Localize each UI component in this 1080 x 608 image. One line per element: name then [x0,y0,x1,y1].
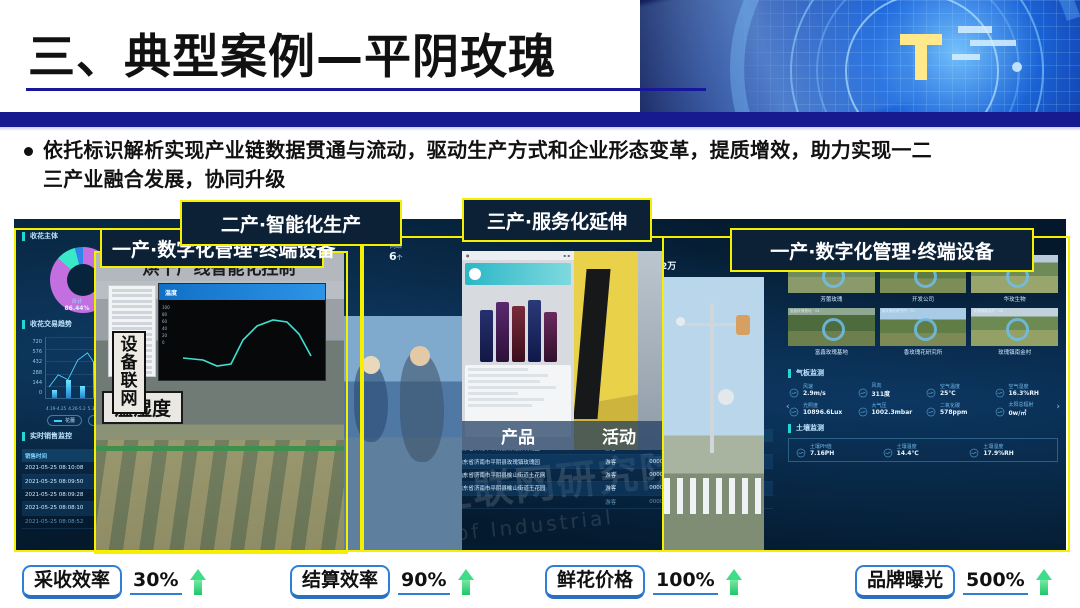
section-marker-icon [22,432,25,441]
scope-plot: 100806040200 [159,300,325,380]
metric-name-chip: 结算效率 [290,565,390,599]
pressure-icon [857,403,869,415]
metric-value-text: 90% [398,569,449,595]
callout-primary-right: 一产·数字化管理·终端设备 [730,228,1034,272]
light-sweep-icon [640,0,915,112]
pill-swatch-icon [54,420,62,422]
pill-filter[interactable]: 花蕾 [47,415,82,426]
co2-icon [925,403,937,415]
x-tick: 4.19-4.25 [46,406,66,411]
camera-feed-image: 玫瑰镇南金村 · 06 [971,308,1058,346]
anemometer-cup-icon [676,317,685,326]
metric-badge: 鲜花价格100% [545,565,742,599]
metric-tile: 风向311度 [857,382,922,398]
metric-label: 空气湿度 [1009,383,1039,390]
trend-up-arrow-icon [458,569,474,595]
wind-direction-icon [857,384,869,396]
metric-value: 2.9m/s [803,390,826,397]
table-cell [454,495,602,508]
temperature-line-icon [159,300,325,380]
metric-value: 25℃ [940,390,960,397]
section-marker-icon [22,320,25,329]
metric-tile: 空气温度25℃ [925,382,990,398]
y-tick: 288 [22,368,42,378]
bullet-line-1: 依托标识解析实现产业链数据贯通与流动，驱动生产方式和企业形态变革，提质增效，助力… [43,136,932,165]
camera-name: 玫瑰镇南金村 [971,346,1058,356]
section-marker-icon [788,369,791,378]
metric-value: 10896.6Lux [803,409,842,416]
metric-label: 土壤湿度 [983,443,1013,450]
photo-phone-product: ●▪ ▪ 产品 [462,251,574,450]
photo-package-activity: 活动 [574,251,664,450]
footer-metrics-row: 采收效率30%结算效率90%鲜花价格100%品牌曝光500% [0,558,1080,606]
camera-name: 芳蕾玫瑰 [788,293,875,303]
metric-tile: 土壤湿度17.9%RH [968,443,1051,457]
stat-value: 6 [389,250,397,263]
camera-name: 富鑫玫瑰基地 [788,346,875,356]
photo-factory-workers [344,316,462,550]
table-cell: 游客 [602,495,646,508]
scope-y-axis: 100806040200 [162,304,170,346]
soil-temp-icon [882,444,894,456]
y-tick: 144 [22,378,42,388]
camera-name: 开发公司 [880,293,967,303]
slide-header: 三、典型案例—平阴玫瑰 [0,0,1080,112]
metric-name-chip: 鲜花价格 [545,565,645,599]
sensor-box-icon [736,315,750,335]
circuit-chip-icon [952,54,980,60]
phone-status-bar: ●▪ ▪ [462,251,574,260]
metric-value-text: 30% [130,569,181,595]
phone-banner [465,263,571,285]
pill-label: 花蕾 [65,417,75,424]
camera-tile[interactable]: 香玫瑰花研究所 · 05香玫瑰花研究所 [880,308,967,356]
pie-section-title: 收花主体 [30,231,58,241]
table-cell: 山东省济南市平阴县榆山街道王花园 [454,482,602,495]
stat-unit: 个 [397,255,403,262]
station-arm [680,323,744,326]
circuit-node-icon [1012,62,1022,72]
metric-tile: 太阳总辐射0w/㎡ [994,401,1059,417]
wind-icon [788,384,800,396]
device-network-label: 设备联网 [112,331,146,414]
metric-label: 风速 [803,383,826,390]
ph-icon [795,444,807,456]
metric-value: 16.3%RH [1009,390,1039,397]
photo-caption-activity: 活动 [574,421,664,450]
trend-up-arrow-icon [1036,569,1052,595]
photo-weather-station [664,277,764,550]
metric-tile: 大气压1002.3mbar [857,401,922,417]
y-tick: 432 [22,357,42,367]
weather-metrics-grid: 风速2.9m/s风向311度空气温度25℃空气湿度16.3%RH光照度10896… [788,382,1058,417]
metric-label: 风向 [872,382,891,389]
trend-up-arrow-icon [726,569,742,595]
soil-section-header: 土壤监测 [788,423,1058,433]
bullet-block: 依托标识解析实现产业链数据贯通与流动，驱动生产方式和企业形态变革，提质增效，助力… [24,136,1064,194]
camera-name: 香玫瑰花研究所 [880,346,967,356]
radiation-icon [994,403,1006,415]
metric-tile: 土壤温度14.4℃ [882,443,965,457]
metric-label: 大气压 [872,402,913,409]
metric-badge: 品牌曝光500% [855,565,1052,599]
metric-label: 太阳总辐射 [1009,401,1034,408]
camera-feed-image: 富鑫玫瑰基地 · 04 [788,308,875,346]
bullet-line-2: 三产业融合发展，协同升级 [43,165,932,194]
callout-secondary: 二产·智能化生产 [180,200,402,246]
table-cell: 游客 [602,482,646,495]
package-label-strip [574,269,611,419]
humidity-icon [994,384,1006,396]
callout-tertiary: 三产·服务化延伸 [462,198,652,242]
camera-tile[interactable]: 玫瑰镇南金村 · 06玫瑰镇南金村 [971,308,1058,356]
header-divider-bar [0,112,1080,127]
metric-value-text: 100% [653,569,718,595]
weather-section-title: 气板监测 [796,368,824,378]
header-tech-graphic [640,0,1080,112]
section-marker-icon [22,232,25,241]
section-marker-icon [788,424,791,433]
camera-next-icon[interactable]: › [1056,402,1060,412]
tray-rail [94,446,344,451]
header-divider-shadow [0,127,1080,131]
y-tick: 576 [22,347,42,357]
slide-root: 三、典型案例—平阴玫瑰 依托标识解析实现产业链数据贯通与流动，驱动生产方式和企业… [0,0,1080,608]
metric-label: 土壤PH值 [810,443,834,450]
metric-value: 578ppm [940,409,967,416]
metric-badge: 结算效率90% [290,565,474,599]
camera-tile[interactable]: 富鑫玫瑰基地 · 04富鑫玫瑰基地 [788,308,875,356]
title-underline [26,88,706,91]
logo-letter-t-icon [900,34,942,80]
metric-badge: 采收效率30% [22,565,206,599]
table-cell: 游客 [602,455,646,468]
bullet-dot-icon [24,147,33,156]
table-cell: 山东省济南市平阴县榆山街道土花网 [454,468,602,481]
metric-tile: 光照度10896.6Lux [788,401,853,417]
thermometer-icon [925,384,937,396]
soil-humidity-icon [968,444,980,456]
camera-osd-text: 香玫瑰花研究所 · 05 [882,309,915,314]
metric-tile: 土壤PH值7.16PH [795,443,878,457]
temperature-chart-screen: 温度 100806040200 [158,283,326,381]
scope-title: 温度 [159,284,325,300]
soil-section-title: 土壤监测 [796,423,824,433]
metric-label: 光照度 [803,402,842,409]
camera-dome-icon [718,389,734,405]
photo-caption-product: 产品 [462,421,574,450]
table-cell: 游客 [602,468,646,481]
metric-name-chip: 品牌曝光 [855,565,955,599]
bar-chart-y-axis: 720 576 432 288 144 0 [22,337,42,398]
bar-section-title: 收花交易趋势 [30,319,72,329]
x-tick: 4.26-5.2 [68,406,86,411]
sun-icon [788,403,800,415]
metric-value: 311度 [872,389,891,398]
soil-metrics-grid: 土壤PH值7.16PH土壤温度14.4℃土壤湿度17.9%RH [795,443,1051,457]
metric-tile: 二氧化碳578ppm [925,401,990,417]
drying-trays [94,440,344,550]
camera-feed-image: 香玫瑰花研究所 · 05 [880,308,967,346]
trend-up-arrow-icon [190,569,206,595]
metric-value: 7.16PH [810,450,834,457]
y-tick: 0 [22,388,42,398]
metric-value-text: 500% [963,569,1028,595]
table-cell: 山东省济南市平阴县玫瑰镇玫瑰园 [454,455,602,468]
fence [664,478,764,514]
sales-section-title: 实时销售监控 [30,431,72,441]
metric-value: 0w/㎡ [1009,408,1034,417]
metric-value: 1002.3mbar [872,409,913,416]
phone-product-shelf [462,288,574,362]
metric-tile: 空气湿度16.3%RH [994,382,1059,398]
weather-section-header: 气板监测 [788,368,1058,378]
y-tick: 720 [22,337,42,347]
soil-metrics-box: 土壤PH值7.16PH土壤温度14.4℃土壤湿度17.9%RH [788,438,1058,462]
page-title: 三、典型案例—平阴玫瑰 [28,18,556,87]
metric-tile: 风速2.9m/s [788,382,853,398]
metric-value: 17.9%RH [983,450,1013,457]
metric-name-chip: 采收效率 [22,565,122,599]
camera-osd-text: 富鑫玫瑰基地 · 04 [790,309,820,314]
circuit-chip-icon [970,40,1016,46]
metric-label: 二氧化碳 [940,402,967,409]
metric-label: 空气温度 [940,383,960,390]
camera-osd-text: 玫瑰镇南金村 · 06 [973,309,1003,314]
circuit-chip-icon [958,26,992,33]
camera-name: 华玫生物 [971,293,1058,303]
metric-value: 14.4℃ [897,450,919,457]
metric-label: 土壤温度 [897,443,919,450]
